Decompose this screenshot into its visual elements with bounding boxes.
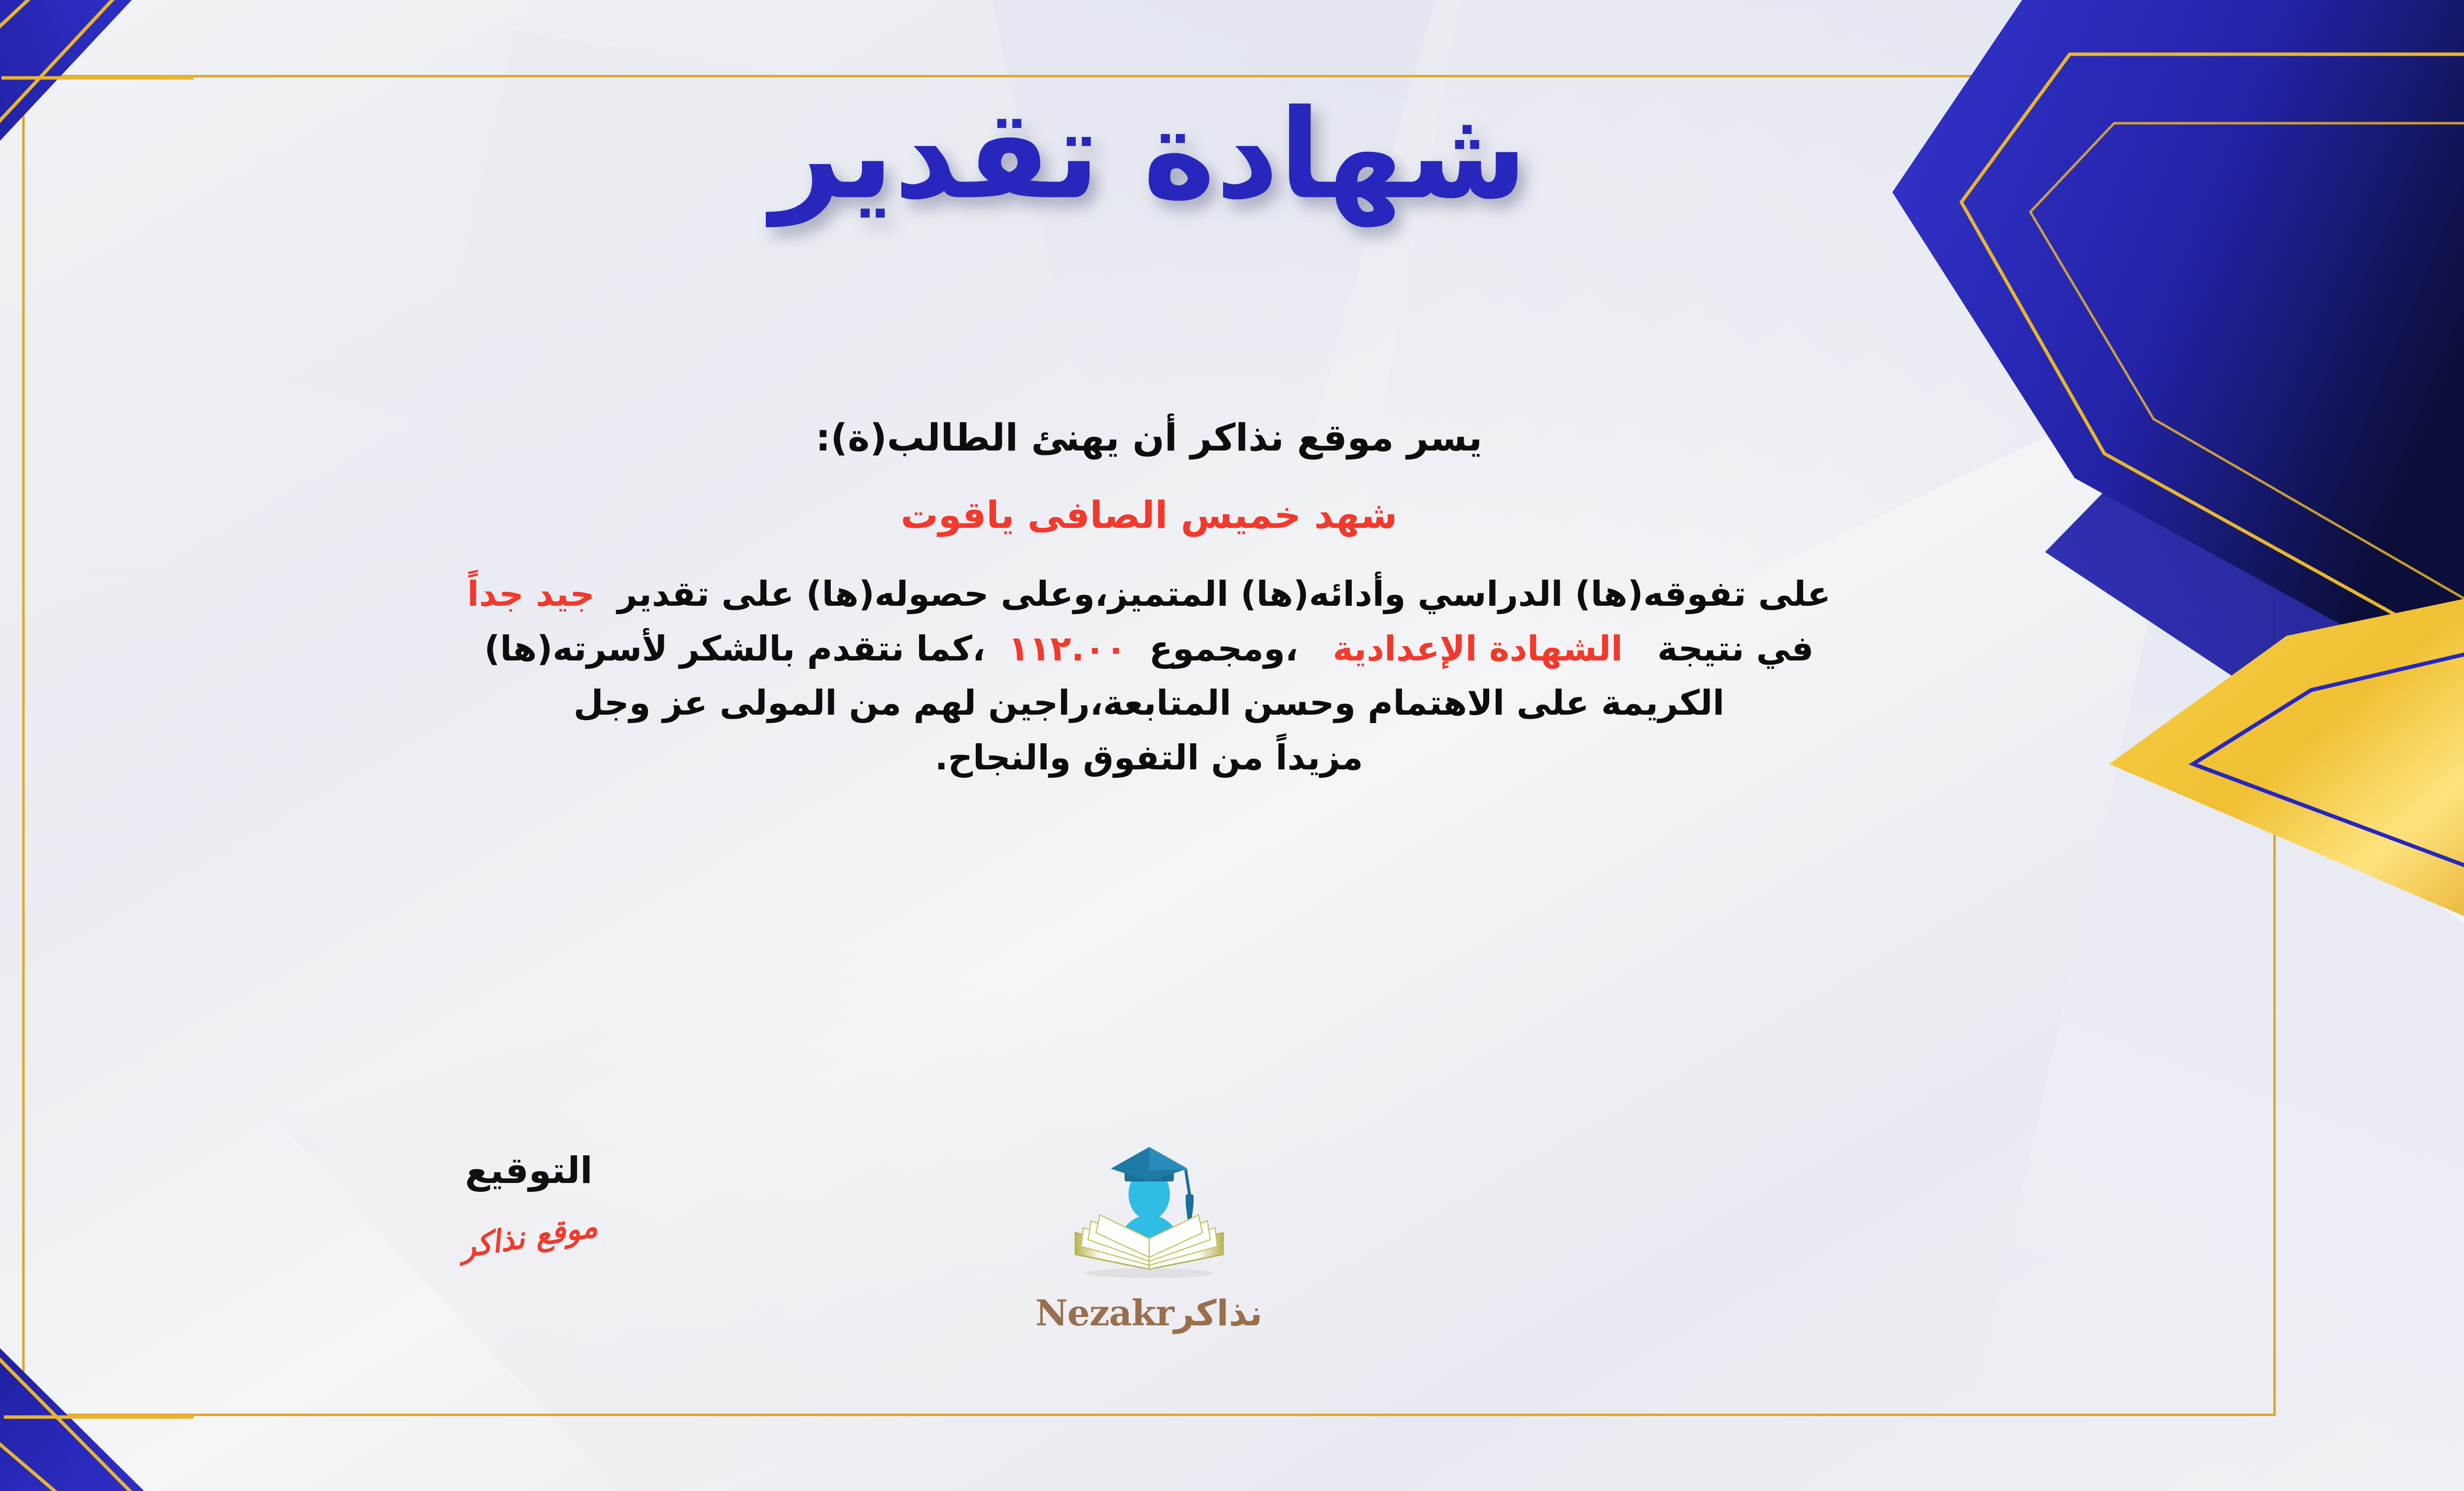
paragraph-part-2: في نتيجة — [1657, 628, 1814, 669]
certificate-canvas: شهادة تقدير يسر موقع نذاكر أن يهنئ الطال… — [0, 0, 2464, 1491]
certificate-title: شهادة تقدير — [0, 49, 2464, 306]
student-name: شهد خميس الصافى ياقوت — [0, 489, 2301, 541]
intro-line: يسر موقع نذاكر أن يهنئ الطالب(ة): — [0, 409, 2301, 466]
paragraph-line-1: على تفوقه(ها) الدراسي وأدائه(ها) المتميز… — [0, 567, 2301, 622]
total-score: ١١٢.٠٠ — [1008, 628, 1127, 669]
signature-label: التوقيع — [401, 1151, 657, 1191]
certificate-footer: التوقيع موقع نذاكر — [0, 1151, 2301, 1387]
signature-block: التوقيع موقع نذاكر — [401, 1151, 657, 1254]
brand-wordmark: نذاكرNezakr — [967, 1292, 1332, 1334]
signature-mark: موقع نذاكر — [399, 1199, 658, 1274]
grade-value: جيد جداً — [467, 574, 595, 614]
brand-logo: نذاكرNezakr — [967, 1141, 1332, 1334]
title-text: شهادة تقدير — [765, 83, 1527, 228]
paragraph-part-1: على تفوقه(ها) الدراسي وأدائه(ها) المتميز… — [617, 574, 1831, 614]
paragraph-part-3: ،ومجموع — [1149, 628, 1299, 669]
certificate-body: يسر موقع نذاكر أن يهنئ الطالب(ة): شهد خم… — [0, 409, 2301, 785]
graduate-open-book-icon — [1046, 1141, 1253, 1289]
body-paragraph: على تفوقه(ها) الدراسي وأدائه(ها) المتميز… — [0, 567, 2301, 785]
brand-name-arabic: نذاكر — [1174, 1292, 1263, 1334]
exam-name: الشهادة الإعدادية — [1333, 628, 1623, 669]
brand-name-latin: Nezakr — [1035, 1292, 1174, 1334]
paragraph-part-4: ،كما نتقدم بالشكر لأسرته(ها) — [484, 628, 986, 669]
paragraph-line-2: في نتيجةالشهادة الإعدادية،ومجموع١١٢.٠٠،ك… — [0, 622, 2301, 676]
paragraph-line-3: الكريمة على الاهتمام وحسن المتابعة،راجين… — [0, 676, 2301, 730]
title-calligraphy: شهادة تقدير — [730, 49, 1568, 256]
paragraph-line-4: مزيداً من التفوق والنجاح. — [0, 730, 2301, 785]
